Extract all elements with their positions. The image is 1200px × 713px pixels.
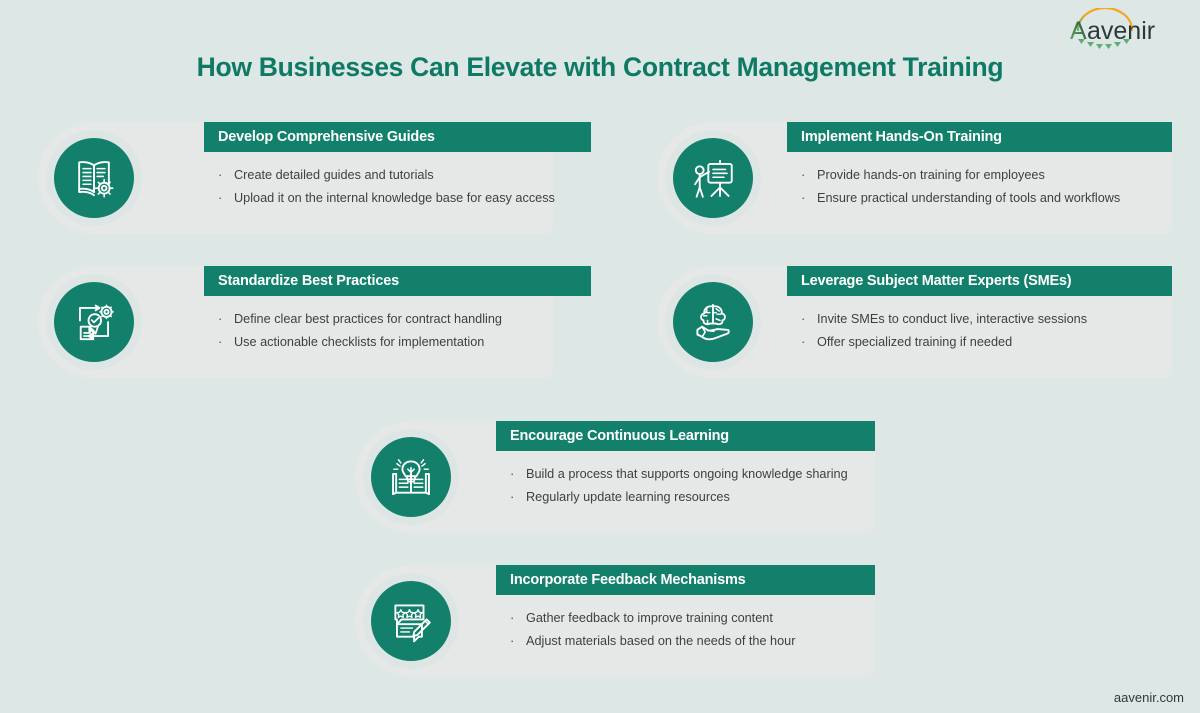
bullet-icon: · xyxy=(510,609,526,627)
card-title: Encourage Continuous Learning xyxy=(510,428,729,444)
list-item-label: Invite SMEs to conduct live, interactive… xyxy=(817,310,1087,328)
svg-text:avenir: avenir xyxy=(1087,17,1155,45)
aavenir-logo-mark: A avenir xyxy=(1068,8,1186,52)
list-item-label: Upload it on the internal knowledge base… xyxy=(234,189,555,207)
list-item-label: Use actionable checklists for implementa… xyxy=(234,333,484,351)
card-header: Incorporate Feedback Mechanisms xyxy=(496,565,875,595)
list-item: · Invite SMEs to conduct live, interacti… xyxy=(801,310,1172,328)
card-header: Leverage Subject Matter Experts (SMEs) xyxy=(787,266,1172,296)
list-item-label: Create detailed guides and tutorials xyxy=(234,166,434,184)
card-body: · Gather feedback to improve training co… xyxy=(496,609,875,655)
svg-text:A: A xyxy=(1070,17,1087,45)
card-develop-comprehensive-guides[interactable]: Develop Comprehensive Guides · Create de… xyxy=(38,122,553,234)
list-item-label: Ensure practical understanding of tools … xyxy=(817,189,1120,207)
list-item: · Define clear best practices for contra… xyxy=(218,310,591,328)
card-header: Implement Hands-On Training xyxy=(787,122,1172,152)
page-title: How Businesses Can Elevate with Contract… xyxy=(0,52,1200,83)
card-incorporate-feedback-mechanisms[interactable]: Incorporate Feedback Mechanisms · Gather… xyxy=(355,565,875,677)
card-leverage-subject-matter-experts[interactable]: Leverage Subject Matter Experts (SMEs) ·… xyxy=(657,266,1172,378)
book-lightbulb-icon xyxy=(371,437,451,517)
presenter-flipchart-icon xyxy=(673,138,753,218)
list-item: · Use actionable checklists for implemen… xyxy=(218,333,591,351)
card-encourage-continuous-learning[interactable]: Encourage Continuous Learning · Build a … xyxy=(355,421,875,533)
bullet-icon: · xyxy=(510,488,526,506)
card-header: Standardize Best Practices xyxy=(204,266,591,296)
card-title: Standardize Best Practices xyxy=(218,273,399,289)
document-award-gear-icon xyxy=(54,282,134,362)
list-item: · Ensure practical understanding of tool… xyxy=(801,189,1172,207)
bullet-icon: · xyxy=(218,333,234,351)
card-body: · Invite SMEs to conduct live, interacti… xyxy=(787,310,1172,356)
bullet-icon: · xyxy=(801,166,817,184)
hand-brain-gear-icon xyxy=(673,282,753,362)
aavenir-logo: A avenir xyxy=(1068,8,1186,52)
card-header: Develop Comprehensive Guides xyxy=(204,122,591,152)
speech-bubbles-stars-pencil-icon xyxy=(371,581,451,661)
list-item: · Provide hands-on training for employee… xyxy=(801,166,1172,184)
bullet-icon: · xyxy=(510,632,526,650)
card-body: · Create detailed guides and tutorials ·… xyxy=(204,166,591,212)
list-item: · Adjust materials based on the needs of… xyxy=(510,632,875,650)
list-item: · Upload it on the internal knowledge ba… xyxy=(218,189,591,207)
bullet-icon: · xyxy=(510,465,526,483)
card-body: · Build a process that supports ongoing … xyxy=(496,465,875,511)
card-title: Develop Comprehensive Guides xyxy=(218,129,435,145)
card-title: Leverage Subject Matter Experts (SMEs) xyxy=(801,273,1071,289)
card-body: · Provide hands-on training for employee… xyxy=(787,166,1172,212)
footer-website: aavenir.com xyxy=(1114,690,1184,705)
bullet-icon: · xyxy=(218,189,234,207)
card-standardize-best-practices[interactable]: Standardize Best Practices · Define clea… xyxy=(38,266,553,378)
list-item-label: Adjust materials based on the needs of t… xyxy=(526,632,795,650)
card-title: Incorporate Feedback Mechanisms xyxy=(510,572,746,588)
bullet-icon: · xyxy=(801,189,817,207)
list-item-label: Regularly update learning resources xyxy=(526,488,730,506)
list-item: · Create detailed guides and tutorials xyxy=(218,166,591,184)
list-item: · Gather feedback to improve training co… xyxy=(510,609,875,627)
card-title: Implement Hands-On Training xyxy=(801,129,1002,145)
bullet-icon: · xyxy=(218,166,234,184)
list-item: · Build a process that supports ongoing … xyxy=(510,465,875,483)
card-implement-hands-on-training[interactable]: Implement Hands-On Training · Provide ha… xyxy=(657,122,1172,234)
card-body: · Define clear best practices for contra… xyxy=(204,310,591,356)
list-item-label: Gather feedback to improve training cont… xyxy=(526,609,773,627)
list-item-label: Define clear best practices for contract… xyxy=(234,310,502,328)
list-item: · Regularly update learning resources xyxy=(510,488,875,506)
list-item-label: Build a process that supports ongoing kn… xyxy=(526,465,848,483)
list-item-label: Offer specialized training if needed xyxy=(817,333,1012,351)
bullet-icon: · xyxy=(801,310,817,328)
book-gear-icon xyxy=(54,138,134,218)
card-header: Encourage Continuous Learning xyxy=(496,421,875,451)
bullet-icon: · xyxy=(801,333,817,351)
list-item: · Offer specialized training if needed xyxy=(801,333,1172,351)
list-item-label: Provide hands-on training for employees xyxy=(817,166,1045,184)
bullet-icon: · xyxy=(218,310,234,328)
